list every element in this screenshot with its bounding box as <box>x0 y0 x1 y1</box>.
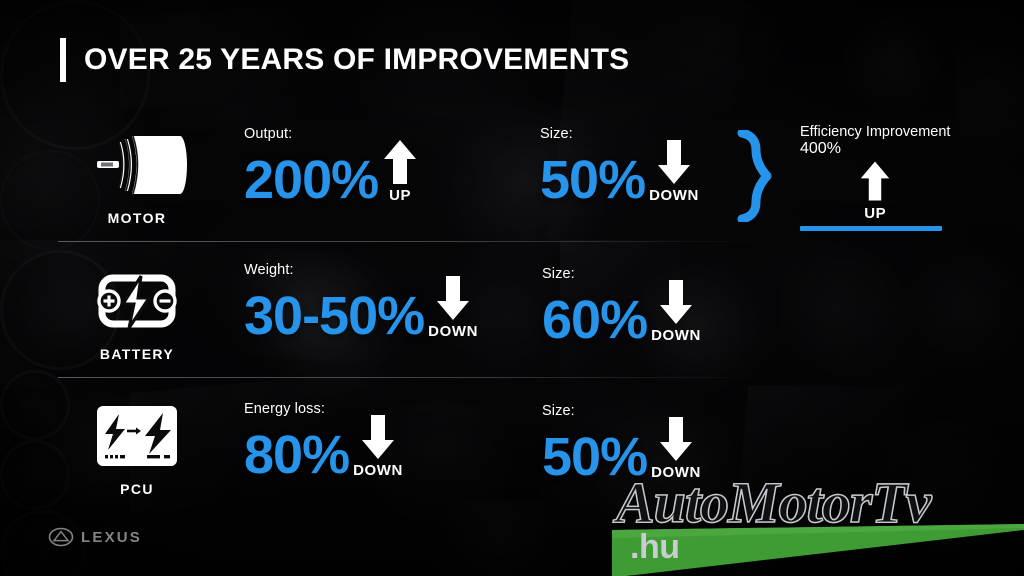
arrow-down-glyph <box>656 138 692 186</box>
pcu-icon <box>62 397 212 475</box>
title-accent-bar <box>60 38 66 82</box>
pcu-icon-label: PCU <box>62 481 212 497</box>
battery-icon <box>62 262 212 340</box>
metric-direction: UP <box>389 187 411 204</box>
efficiency-callout: Efficiency Improvement 400% UP <box>800 124 950 231</box>
motor-icon-block: MOTOR <box>62 126 212 226</box>
pcu-icon-block: PCU <box>62 397 212 497</box>
efficiency-value: 400% <box>800 140 950 158</box>
efficiency-underline <box>800 226 942 231</box>
metric-value: 200% <box>244 155 378 206</box>
metric-value: 60% <box>542 295 647 346</box>
metric-value: 80% <box>244 430 349 481</box>
metric-battery-size: Size: 60% DOWN <box>542 266 701 346</box>
motor-icon-label: MOTOR <box>62 210 212 226</box>
page-title: OVER 25 YEARS OF IMPROVEMENTS <box>60 38 629 82</box>
watermark-wordmark: AutoMotorTv AutoMotorTv AutoMotorTv <box>612 472 1024 536</box>
automotortv-watermark: AutoMotorTv AutoMotorTv AutoMotorTv .hu <box>612 476 1024 576</box>
row-motor: MOTOR Output: 200% UP Size: 50% <box>0 112 1024 240</box>
metric-direction: DOWN <box>651 327 701 344</box>
motor-icon <box>62 126 212 204</box>
arrow-down-icon: DOWN <box>651 278 701 346</box>
metric-direction: DOWN <box>428 323 478 340</box>
lexus-emblem-icon <box>48 527 74 547</box>
battery-icon-block: BATTERY <box>62 262 212 362</box>
svg-text:AutoMotorTv: AutoMotorTv <box>613 472 933 535</box>
watermark-domain: .hu <box>630 528 679 567</box>
arrow-down-glyph <box>360 413 396 461</box>
arrow-down-glyph <box>658 278 694 326</box>
efficiency-caption: Efficiency Improvement <box>800 124 950 140</box>
lexus-logo: LEXUS <box>48 527 142 547</box>
arrow-down-icon: DOWN <box>428 274 478 342</box>
arrow-up-glyph <box>859 158 891 204</box>
arrow-down-glyph <box>435 274 471 322</box>
lexus-wordmark: LEXUS <box>81 529 142 546</box>
arrow-down-glyph <box>658 415 694 463</box>
curly-brace-icon <box>730 130 776 227</box>
metric-direction: DOWN <box>649 187 699 204</box>
arrow-up-icon: UP <box>800 158 950 224</box>
metric-value: 50% <box>540 155 645 206</box>
row-divider <box>58 241 778 242</box>
row-battery: BATTERY Weight: 30-50% DOWN Size: 60% <box>0 252 1024 374</box>
metric-motor-size: Size: 50% DOWN <box>540 126 699 206</box>
battery-icon-label: BATTERY <box>62 346 212 362</box>
arrow-down-icon: DOWN <box>353 413 403 481</box>
metric-pcu-size: Size: 50% DOWN <box>542 403 701 483</box>
arrow-up-glyph <box>382 138 418 186</box>
arrow-down-icon: DOWN <box>649 138 699 206</box>
metric-motor-output: Output: 200% UP <box>244 126 418 206</box>
row-divider <box>58 377 778 378</box>
metric-battery-weight: Weight: 30-50% DOWN <box>244 262 478 342</box>
metric-value: 30-50% <box>244 291 424 342</box>
metric-pcu-energy-loss: Energy loss: 80% DOWN <box>244 401 403 481</box>
title-text: OVER 25 YEARS OF IMPROVEMENTS <box>84 43 629 77</box>
arrow-up-icon: UP <box>382 138 418 206</box>
metric-direction: DOWN <box>353 462 403 479</box>
efficiency-direction: UP <box>864 205 886 222</box>
